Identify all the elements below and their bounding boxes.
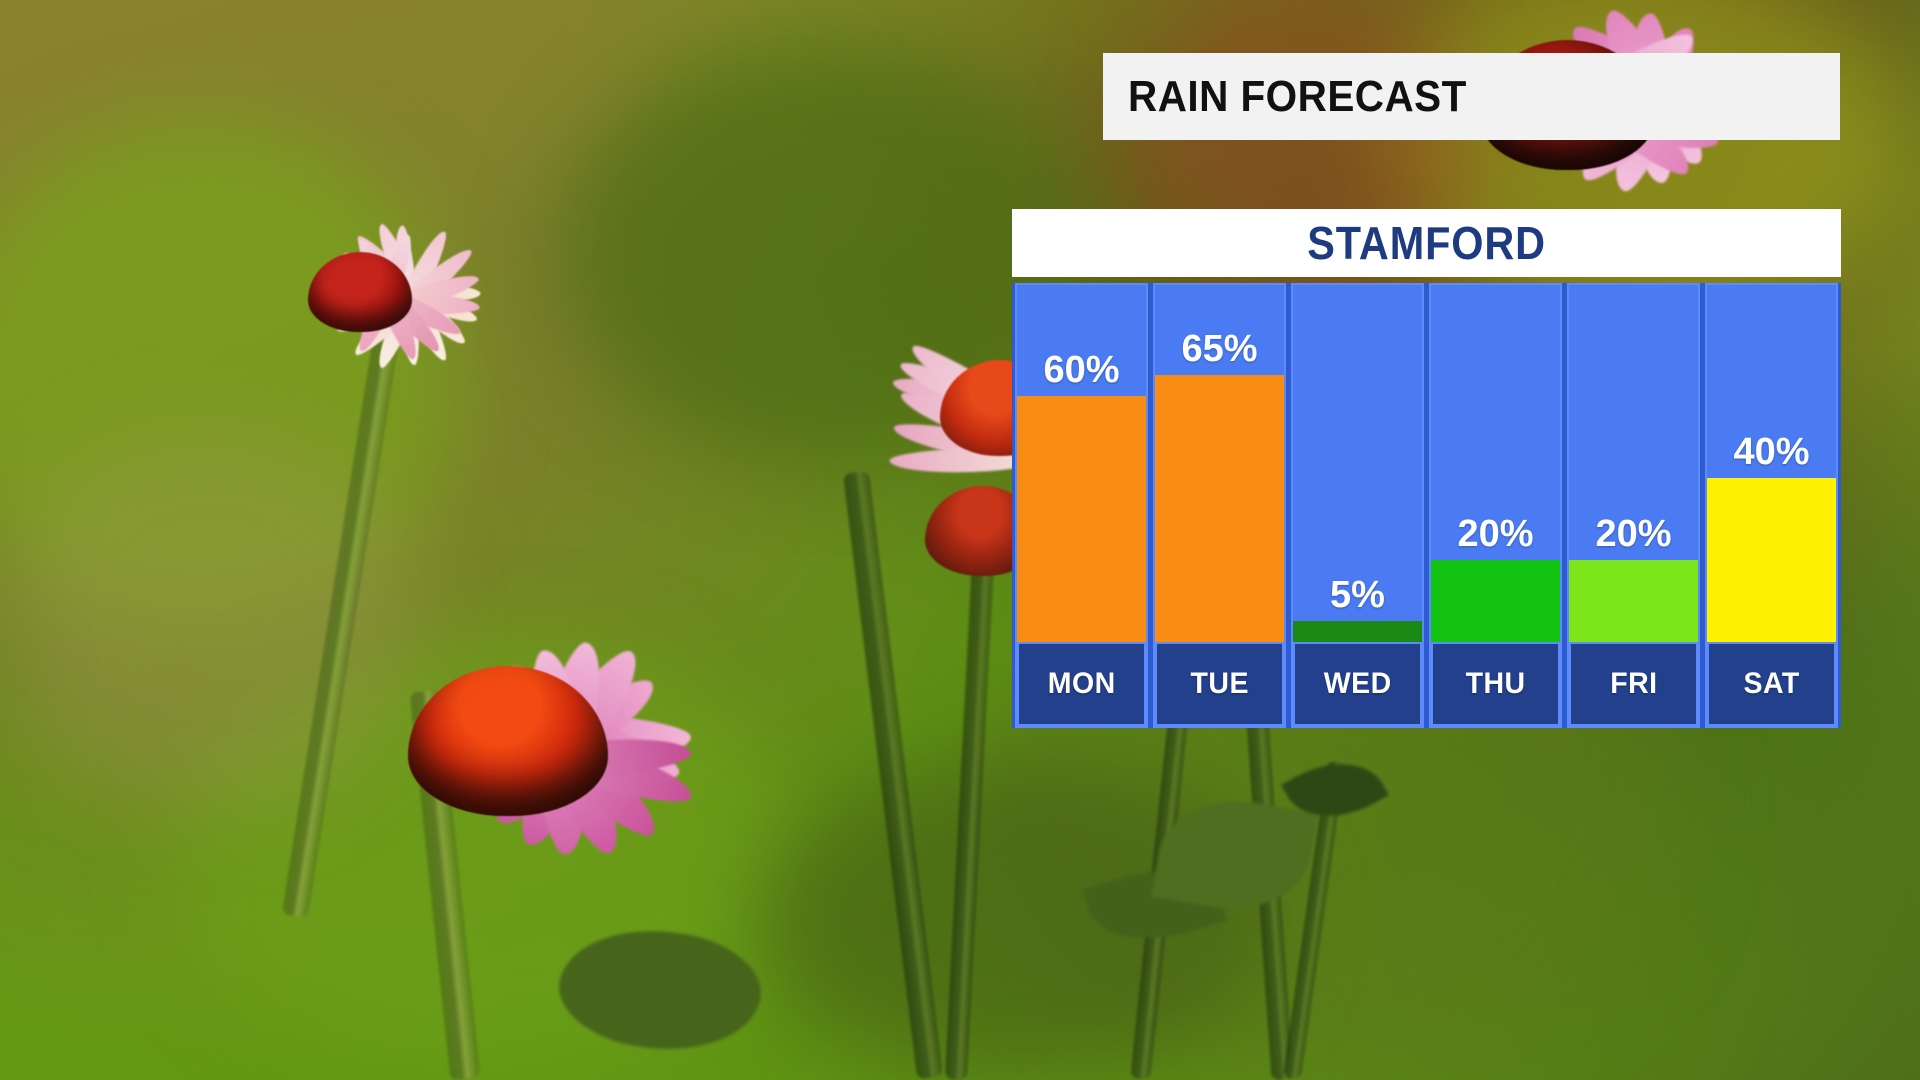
day-label-cell-thu: THU	[1431, 642, 1560, 726]
day-label-wed: WED	[1324, 667, 1392, 701]
forecast-column-tue[interactable]: 65% TUE	[1153, 283, 1286, 728]
bar-track-fri: 20%	[1569, 285, 1698, 642]
day-label-mon: MON	[1048, 667, 1116, 701]
headline-text: RAIN FORECAST	[1128, 72, 1467, 122]
day-label-fri: FRI	[1610, 667, 1657, 701]
bar-value-tue: 65%	[1155, 328, 1284, 371]
bar-fill-thu	[1431, 560, 1560, 642]
forecast-column-fri[interactable]: 20% FRI	[1567, 283, 1700, 728]
bar-value-wed: 5%	[1293, 574, 1422, 617]
bar-track-thu: 20%	[1431, 285, 1560, 642]
forecast-column-wed[interactable]: 5% WED	[1291, 283, 1424, 728]
rain-forecast-panel: STAMFORD 60% MON 65% TUE 5%	[1012, 209, 1841, 728]
forecast-column-sat[interactable]: 40% SAT	[1705, 283, 1838, 728]
coneflower-cluster	[640, 290, 1060, 590]
coneflower-pale	[180, 200, 540, 460]
day-label-cell-mon: MON	[1017, 642, 1146, 726]
day-label-cell-sat: SAT	[1707, 642, 1836, 726]
bar-value-thu: 20%	[1431, 513, 1560, 556]
day-label-tue: TUE	[1190, 667, 1248, 701]
forecast-column-thu[interactable]: 20% THU	[1429, 283, 1562, 728]
bar-track-sat: 40%	[1707, 285, 1836, 642]
day-label-cell-fri: FRI	[1569, 642, 1698, 726]
day-label-cell-tue: TUE	[1155, 642, 1284, 726]
forecast-column-mon[interactable]: 60% MON	[1015, 283, 1148, 728]
bar-fill-fri	[1569, 560, 1698, 642]
day-label-cell-wed: WED	[1293, 642, 1422, 726]
bar-fill-sat	[1707, 478, 1836, 642]
bar-track-wed: 5%	[1293, 285, 1422, 642]
bar-fill-mon	[1017, 396, 1146, 642]
bar-track-tue: 65%	[1155, 285, 1284, 642]
bar-value-fri: 20%	[1569, 513, 1698, 556]
bar-fill-tue	[1155, 375, 1284, 642]
day-label-thu: THU	[1466, 667, 1526, 701]
forecast-bar-chart: 60% MON 65% TUE 5% WED	[1012, 283, 1841, 728]
day-label-sat: SAT	[1743, 667, 1799, 701]
bar-value-sat: 40%	[1707, 431, 1836, 474]
city-name: STAMFORD	[1307, 216, 1546, 270]
coneflower-magenta	[250, 600, 770, 930]
city-header: STAMFORD	[1012, 209, 1841, 277]
bar-track-mon: 60%	[1017, 285, 1146, 642]
bar-value-mon: 60%	[1017, 349, 1146, 392]
headline-banner: RAIN FORECAST	[1103, 53, 1840, 140]
bar-fill-wed	[1293, 621, 1422, 642]
